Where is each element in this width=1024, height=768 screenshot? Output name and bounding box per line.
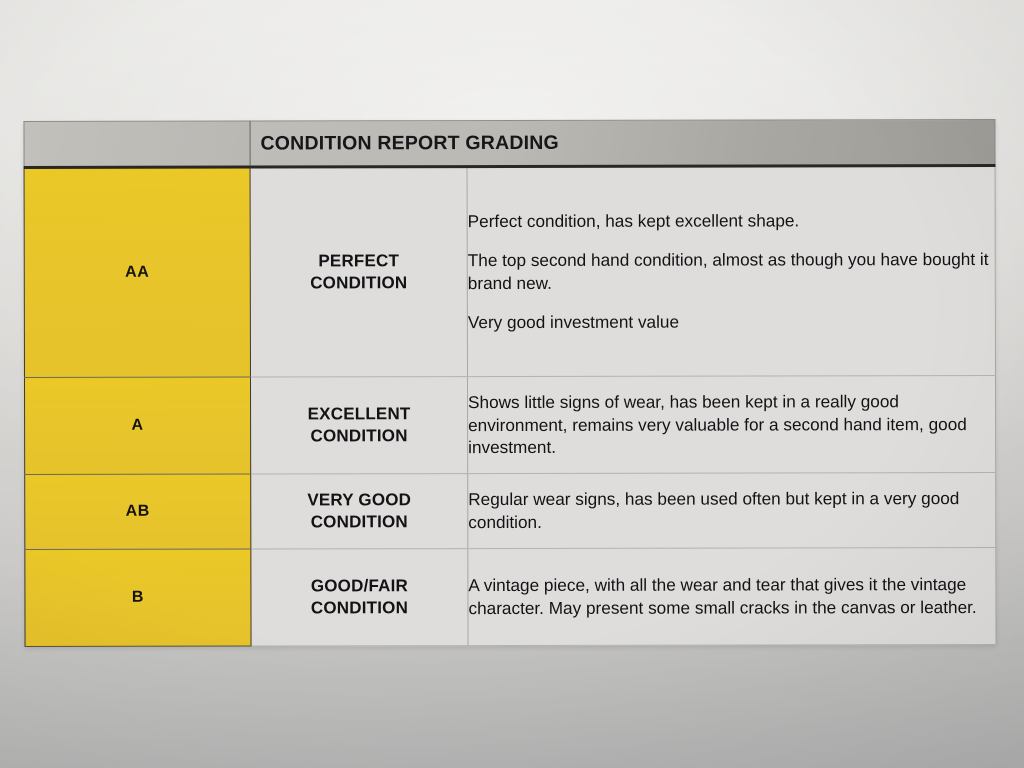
description-paragraph: Shows little signs of wear, has been kep…: [468, 390, 995, 460]
grade-cell-a: A: [24, 377, 250, 474]
description-cell-ab: Regular wear signs, has been used often …: [468, 472, 996, 548]
photographed-page: CONDITION REPORT GRADING AA PERFECT COND…: [0, 0, 1024, 768]
condition-name-cell-b: GOOD/FAIR CONDITION: [251, 549, 468, 646]
header-title-cell: CONDITION REPORT GRADING: [250, 119, 995, 167]
grade-label: A: [131, 417, 143, 434]
condition-name-label: VERY GOOD CONDITION: [251, 489, 467, 533]
grade-cell-ab: AB: [25, 474, 251, 549]
condition-name-line-2: CONDITION: [311, 512, 408, 531]
condition-name-cell-a: EXCELLENT CONDITION: [250, 377, 467, 474]
condition-name-line-1: PERFECT: [318, 251, 399, 270]
condition-name-line-1: EXCELLENT: [308, 404, 411, 423]
grade-cell-aa: AA: [24, 167, 250, 377]
condition-name-label: GOOD/FAIR CONDITION: [251, 575, 467, 619]
condition-name-cell-ab: VERY GOOD CONDITION: [251, 474, 468, 549]
description-cell-b: A vintage piece, with all the wear and t…: [468, 547, 996, 645]
description-paragraph: Regular wear signs, has been used often …: [468, 487, 995, 534]
header-blank-cell: [24, 121, 250, 167]
table-row: AB VERY GOOD CONDITION Regular wear sign…: [25, 472, 996, 549]
grade-cell-b: B: [25, 549, 251, 646]
table-header: CONDITION REPORT GRADING: [24, 119, 995, 167]
condition-name-label: PERFECT CONDITION: [251, 250, 467, 294]
condition-name-line-2: CONDITION: [311, 598, 408, 617]
description-cell-aa: Perfect condition, has kept excellent sh…: [467, 165, 995, 376]
description-paragraph: A vintage piece, with all the wear and t…: [468, 573, 995, 620]
table-row: B GOOD/FAIR CONDITION A vintage piece, w…: [25, 547, 996, 646]
condition-name-line-1: VERY GOOD: [307, 490, 411, 509]
condition-name-line-2: CONDITION: [310, 426, 407, 445]
description-paragraph: Perfect condition, has kept excellent sh…: [468, 209, 995, 233]
table-row: AA PERFECT CONDITION Perfect condition, …: [24, 165, 995, 377]
description-paragraph: The top second hand condition, almost as…: [468, 248, 995, 295]
description-paragraph: Very good investment value: [468, 310, 995, 334]
description-cell-a: Shows little signs of wear, has been kep…: [467, 375, 995, 473]
condition-name-line-2: CONDITION: [310, 273, 407, 292]
condition-name-line-1: GOOD/FAIR: [311, 576, 408, 595]
page-title: CONDITION REPORT GRADING: [250, 130, 994, 155]
grade-label: B: [132, 589, 144, 606]
table-body: AA PERFECT CONDITION Perfect condition, …: [24, 165, 996, 646]
condition-report-grading-table: CONDITION REPORT GRADING AA PERFECT COND…: [23, 119, 996, 647]
grade-label: AB: [126, 503, 150, 520]
condition-name-cell-aa: PERFECT CONDITION: [250, 167, 467, 377]
grade-label: AA: [125, 264, 149, 281]
table-row: A EXCELLENT CONDITION Shows little signs…: [24, 375, 995, 474]
table-header-row: CONDITION REPORT GRADING: [24, 119, 995, 167]
condition-name-label: EXCELLENT CONDITION: [251, 403, 467, 447]
